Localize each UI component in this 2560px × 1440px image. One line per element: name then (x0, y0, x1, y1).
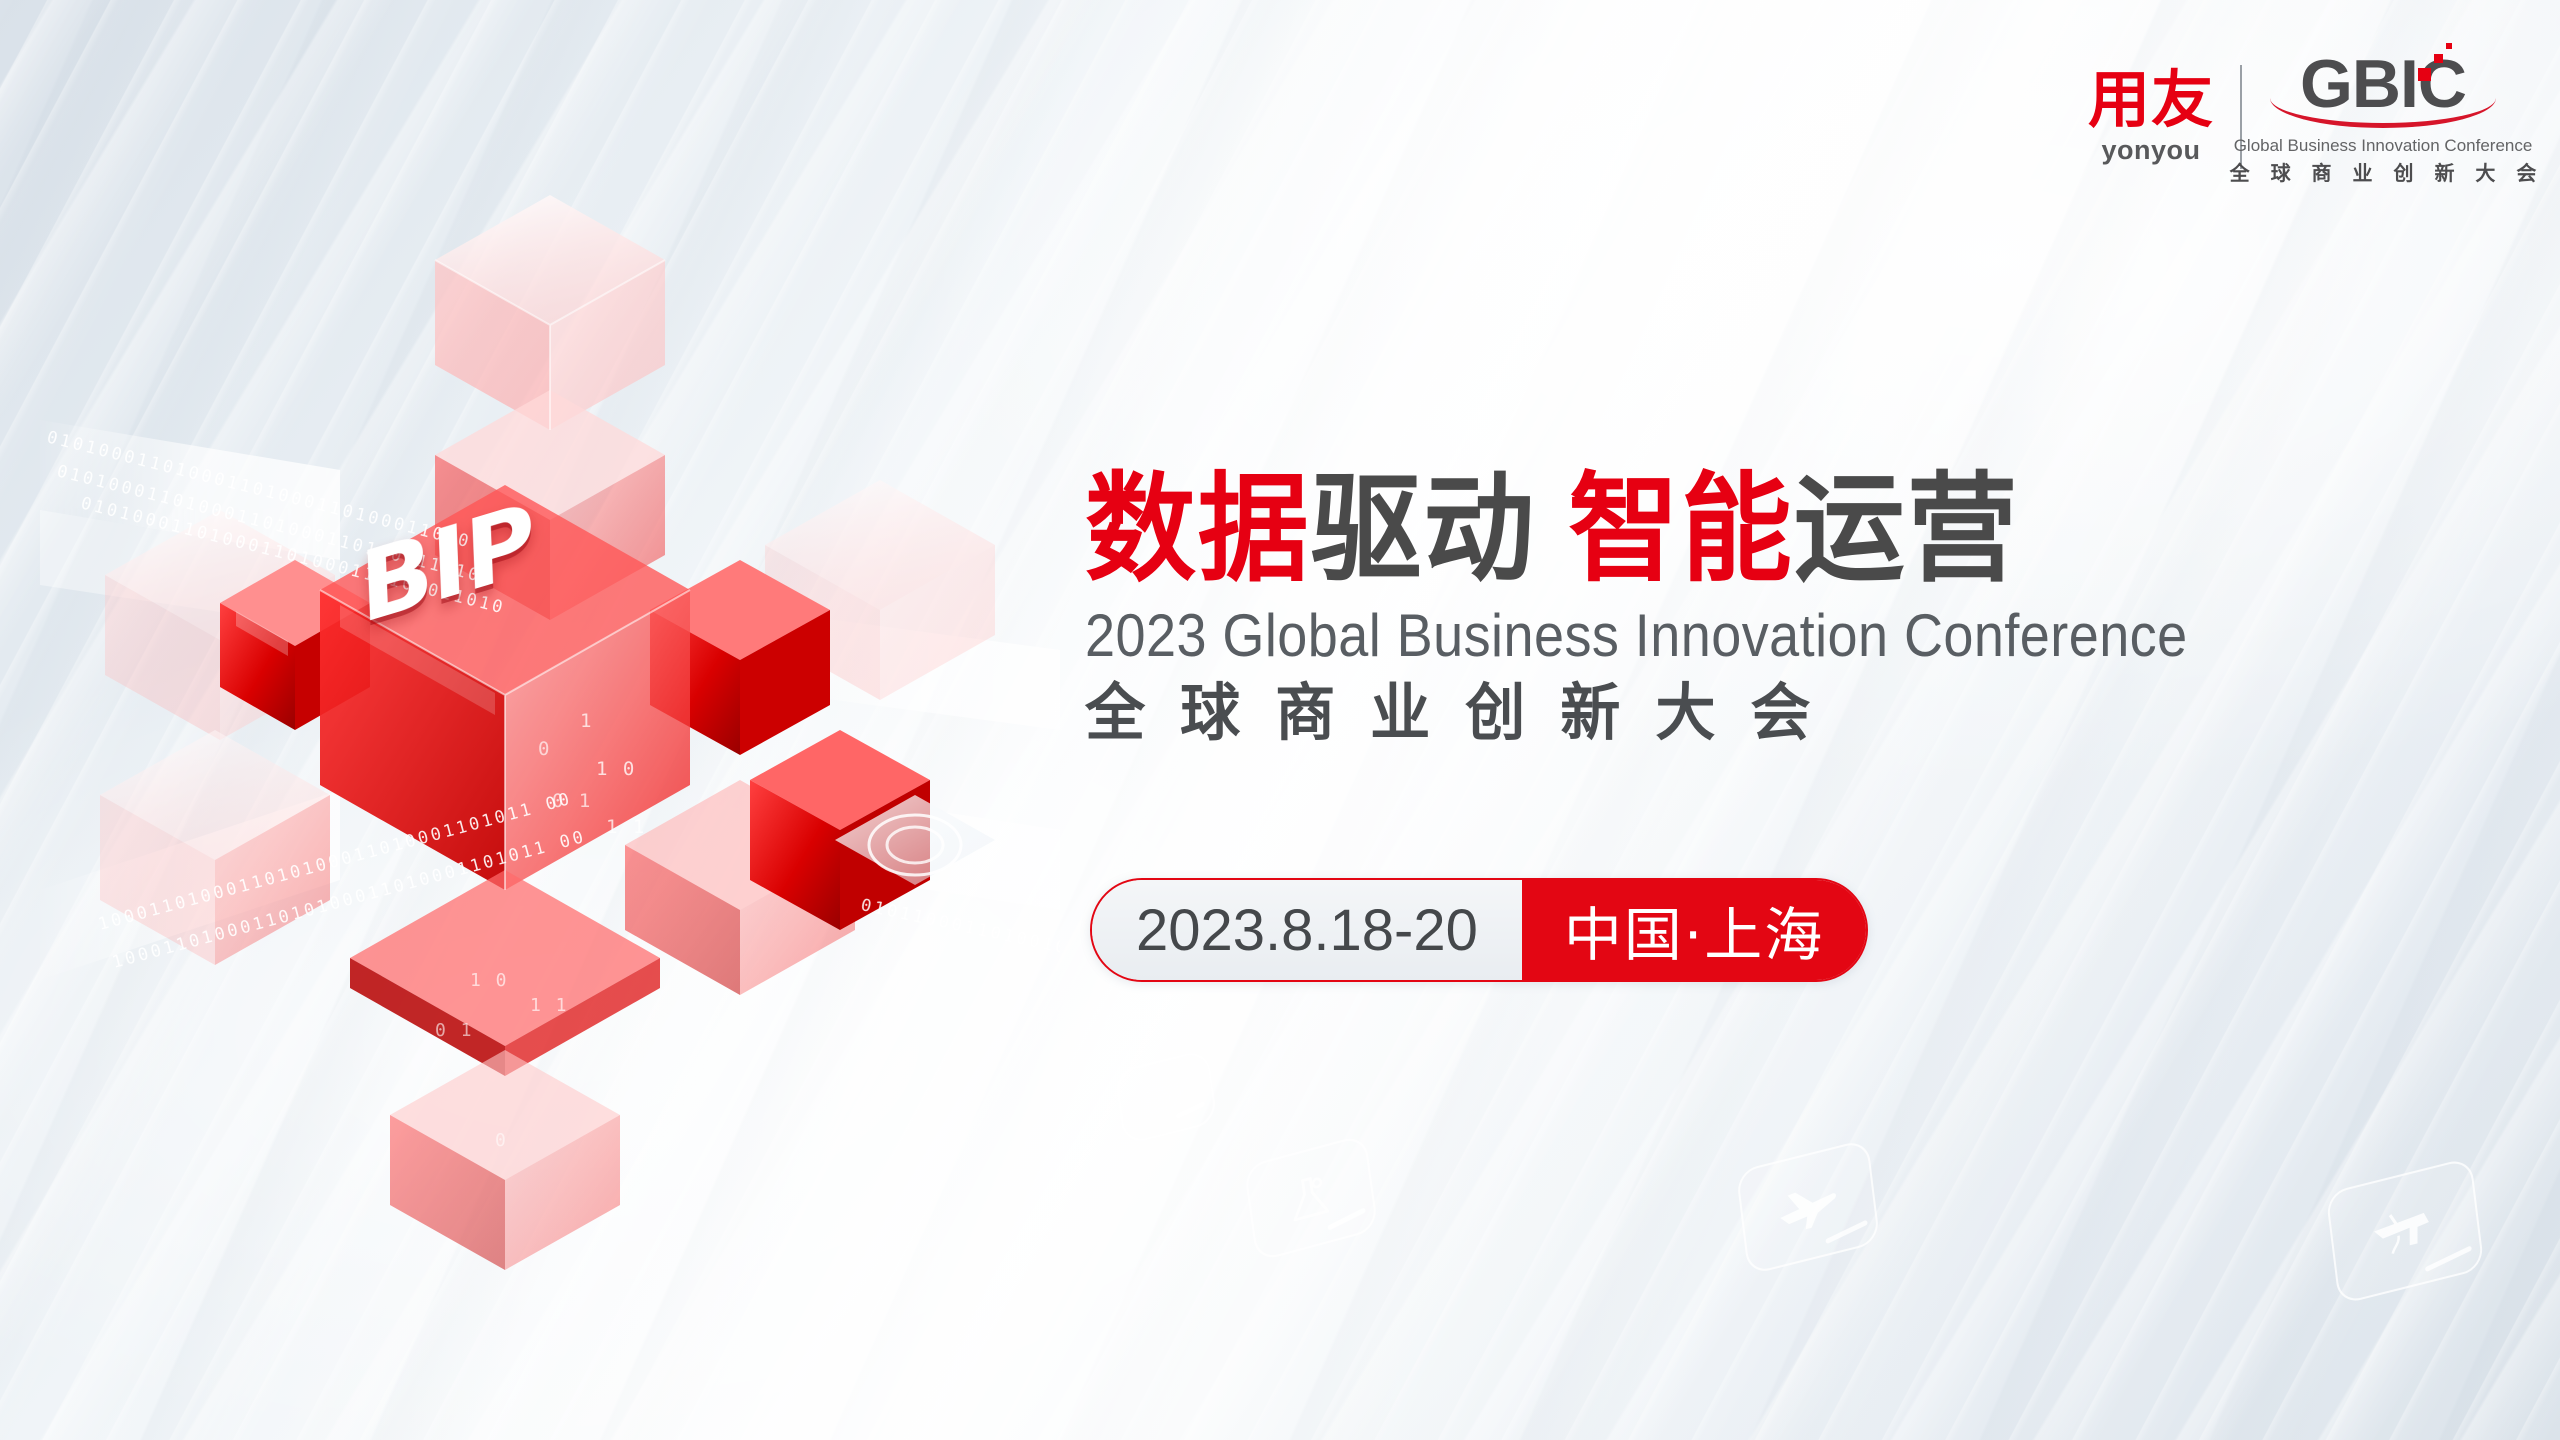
cube-bottom-plate (350, 870, 660, 1076)
subtitle-english: 2023 Global Business Innovation Conferen… (1085, 606, 2282, 666)
airplane-icon (1736, 1139, 1881, 1276)
banner-text-block: 数据驱动智能运营 2023 Global Business Innovation… (1085, 470, 2415, 744)
gbic-tagline-en: Global Business Innovation Conference (2234, 137, 2533, 154)
page-title: 数据驱动智能运营 (1085, 470, 2335, 588)
construction-crane-icon (2325, 1157, 2484, 1305)
headline-segment-shuju: 数据 (1085, 460, 1311, 598)
gbic-tagline-cn: 全 球 商 业 创 新 大 会 (2223, 163, 2544, 183)
headline-segment-yunying: 运营 (1794, 460, 2020, 598)
event-date: 2023.8.18-20 (1092, 880, 1522, 980)
cube-snowflake-graphic: 010100011010001101000110100011010 010100… (40, 90, 1060, 1270)
subtitle-chinese: 全球商业创新大会 (1085, 682, 2375, 744)
bip-cube-artwork: 010100011010001101000110100011010 010100… (40, 90, 1060, 1270)
gbic-pixel-small-icon (2434, 54, 2443, 63)
logo-lockup: 用友 yonyou GBIC Global Business Innovatio… (2088, 50, 2498, 183)
gbic-pixel-dot-icon (2418, 68, 2431, 81)
gbic-pixel-tiny-icon (2446, 43, 2452, 49)
yonyou-logo-cn: 用友 (2088, 69, 2214, 131)
yonyou-logo[interactable]: 用友 yonyou (2088, 69, 2214, 164)
gbic-wordmark: GBIC (2268, 50, 2498, 124)
gbic-swoosh-arc-icon (2270, 98, 2496, 128)
conference-banner: 010100011010001101000110100011010 010100… (0, 0, 2560, 1440)
headline-segment-zhineng: 智能 (1568, 460, 1794, 598)
gbic-logo[interactable]: GBIC Global Business Innovation Conferen… (2268, 50, 2498, 183)
finance-money-icon (1114, 1049, 1218, 1146)
chemistry-flask-icon (1243, 1134, 1378, 1262)
binary-right: 0101100011010010110100011 (859, 895, 1060, 983)
cube-bottom-outer (390, 1050, 620, 1270)
headline-segment-qudong: 驱动 (1311, 460, 1537, 598)
date-location-pill[interactable]: 2023.8.18-20 中国·上海 (1090, 878, 1868, 982)
event-location: 中国·上海 (1522, 880, 1866, 980)
yonyou-logo-en: yonyou (2101, 137, 2200, 164)
